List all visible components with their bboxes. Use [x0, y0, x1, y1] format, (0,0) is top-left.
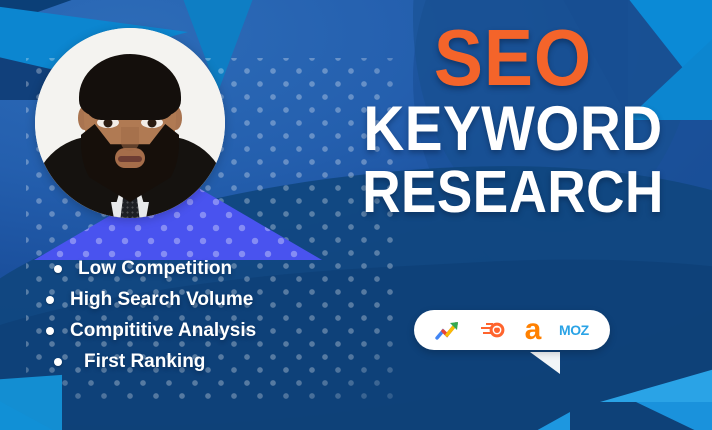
bullet-dot-icon [54, 358, 62, 366]
ahrefs-icon: a [525, 318, 541, 342]
list-item: First Ranking [18, 351, 338, 373]
seo-service-banner: SEO KEYWORD RESEARCH a [0, 0, 712, 430]
list-item: Low Competition [18, 258, 338, 280]
title-line-seo: SEO [341, 20, 685, 95]
list-item: High Search Volume [18, 289, 338, 311]
portrait-mouth [118, 156, 142, 162]
list-item: Compititive Analysis [18, 320, 338, 342]
feature-label: High Search Volume [70, 289, 253, 311]
bullet-dot-icon [54, 265, 62, 273]
page-title: SEO KEYWORD RESEARCH [326, 20, 700, 222]
bullet-dot-icon [46, 296, 54, 304]
decorative-triangle-bottom-center-cyan [516, 412, 570, 430]
semrush-icon [480, 320, 506, 340]
title-line-keyword: KEYWORD [345, 97, 682, 163]
portrait-nose [121, 127, 139, 151]
avatar [35, 28, 225, 218]
bullet-dot-icon [46, 327, 54, 335]
moz-icon: MOZ [559, 322, 589, 338]
feature-label: Compititive Analysis [70, 320, 256, 342]
google-trends-icon [435, 319, 461, 341]
feature-list: Low Competition High Search Volume Compi… [18, 258, 338, 382]
feature-label: Low Competition [78, 258, 232, 280]
decorative-triangle-bottom-right-cyan [600, 368, 712, 402]
feature-label: First Ranking [78, 351, 205, 373]
tool-logo-strip: a MOZ [414, 310, 610, 350]
decorative-triangle-bottom-right-cyan-2 [636, 402, 712, 430]
decorative-triangle-bottom-left-cyan [0, 396, 64, 430]
decorative-triangle-bottom-center-white [530, 352, 560, 374]
title-line-research: RESEARCH [345, 163, 682, 222]
portrait-photo [35, 28, 225, 218]
